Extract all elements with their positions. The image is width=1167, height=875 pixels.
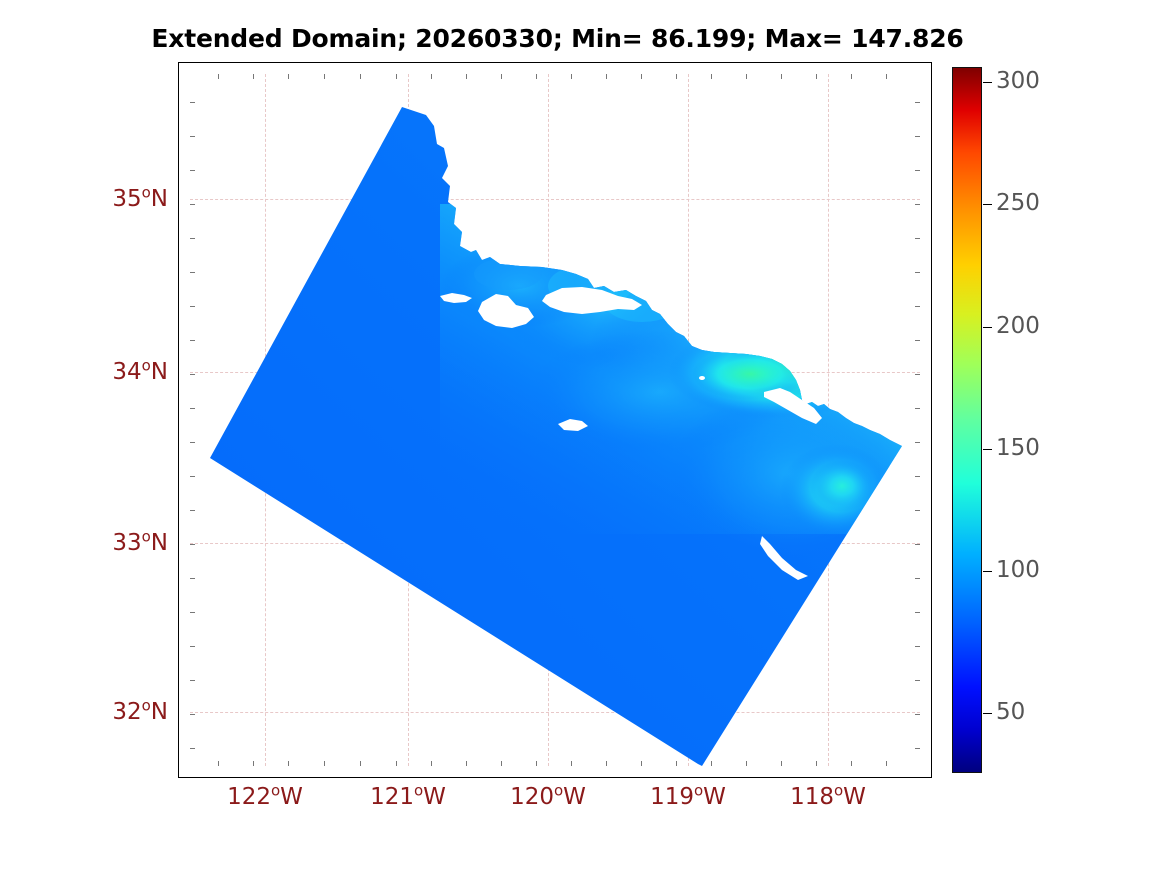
colorbar-tick-50	[983, 713, 992, 714]
map-border-top	[178, 62, 932, 74]
model-domain-field	[190, 74, 920, 766]
colorbar-label-100: 100	[996, 557, 1040, 583]
map-border-bottom	[178, 766, 932, 778]
xtick-label-121W: 121oW	[328, 784, 488, 810]
figure-canvas: Extended Domain; 20260330; Min= 86.199; …	[0, 0, 1167, 875]
ytick-label-35N: 35oN	[50, 186, 168, 212]
map-axes	[178, 62, 932, 778]
xtick-label-120W: 120oW	[468, 784, 628, 810]
colorbar-label-200: 200	[996, 313, 1040, 339]
colorbar-tick-300	[983, 82, 992, 83]
island-santa-barbara	[699, 376, 705, 380]
colorbar-tick-250	[983, 204, 992, 205]
page-title: Extended Domain; 20260330; Min= 86.199; …	[0, 24, 1115, 53]
ytick-label-32N: 32oN	[50, 699, 168, 725]
ytick-label-33N: 33oN	[50, 530, 168, 556]
ytick-label-34N: 34oN	[50, 359, 168, 385]
colorbar	[952, 67, 982, 773]
xtick-label-118W: 118oW	[748, 784, 908, 810]
colorbar-tick-200	[983, 327, 992, 328]
colorbar-label-300: 300	[996, 68, 1040, 94]
colorbar-label-250: 250	[996, 190, 1040, 216]
map-plot-area	[190, 74, 920, 766]
colorbar-tick-100	[983, 571, 992, 572]
map-border-right	[920, 62, 932, 778]
map-border-left	[178, 62, 190, 778]
colorbar-label-50: 50	[996, 699, 1025, 725]
xtick-label-122W: 122oW	[185, 784, 345, 810]
colorbar-label-150: 150	[996, 435, 1040, 461]
xtick-label-119W: 119oW	[608, 784, 768, 810]
island-anacapa	[654, 303, 662, 307]
colorbar-tick-150	[983, 449, 992, 450]
